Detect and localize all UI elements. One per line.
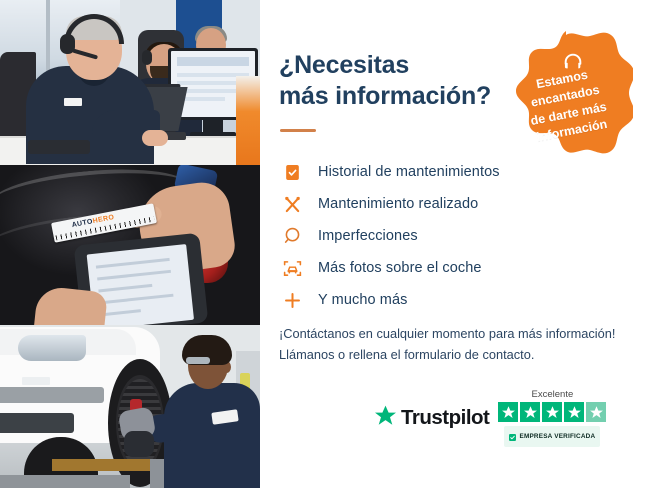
contact-paragraph-line-2: Llámanos o rellena el formulario de cont…	[279, 345, 629, 366]
feature-label: Más fotos sobre el coche	[318, 260, 482, 276]
feature-item-maintenance-done: Mantenimiento realizado	[279, 188, 609, 220]
orange-rack	[236, 76, 260, 165]
mechanic	[164, 335, 260, 488]
star-tile	[542, 402, 562, 422]
feature-label: Mantenimiento realizado	[318, 196, 478, 212]
call-center-agents-photo	[0, 0, 260, 165]
information-banner: AUTOHERO	[0, 0, 650, 488]
magnifier-icon	[279, 223, 305, 249]
feature-item-maintenance-history: Historial de mantenimientos	[279, 156, 609, 188]
feature-label: Y mucho más	[318, 292, 407, 308]
mechanic-wheel-photo	[0, 325, 260, 488]
feature-label: Historial de mantenimientos	[318, 164, 500, 180]
feature-item-more-photos: Más fotos sobre el coche	[279, 252, 609, 284]
trustpilot-star-icon	[373, 404, 398, 433]
verified-check-icon	[509, 428, 516, 446]
title-divider	[280, 129, 316, 132]
desk-tablet	[28, 140, 90, 154]
car-lift-ramp	[0, 475, 130, 488]
trustpilot-name: Trustpilot	[401, 406, 489, 430]
car-scan-icon	[279, 255, 305, 281]
rating-label: Excelente	[532, 389, 574, 400]
page-title-line-1: ¿Necesitas	[279, 50, 529, 81]
photo-column: AUTOHERO	[0, 0, 260, 488]
star-tile	[520, 402, 540, 422]
feature-item-imperfections: Imperfecciones	[279, 220, 609, 252]
crossed-tools-icon	[279, 191, 305, 217]
contact-paragraph: ¡Contáctanos en cualquier momento para m…	[279, 324, 629, 365]
plus-icon	[279, 287, 305, 313]
page-title: ¿Necesitas más información?	[279, 50, 529, 113]
star-tile-partial	[586, 402, 606, 422]
star-tile	[498, 402, 518, 422]
trustpilot-rating: Excelente	[498, 389, 606, 447]
feature-list: Historial de mantenimientos Mantenimient…	[279, 156, 609, 316]
promo-badge: Estamos encantados de darte más informac…	[499, 31, 633, 159]
contact-paragraph-line-1: ¡Contáctanos en cualquier momento para m…	[279, 324, 629, 345]
verified-label: EMPRESA VERIFICADA	[519, 433, 595, 440]
page-title-line-2: más información?	[279, 81, 529, 112]
checklist-document-icon	[279, 159, 305, 185]
content-panel: ¿Necesitas más información? Estamos enca…	[260, 0, 650, 488]
agent-one	[22, 18, 146, 144]
trustpilot-logo[interactable]: Trustpilot	[373, 404, 489, 433]
feature-item-much-more: Y mucho más	[279, 284, 609, 316]
star-rating	[498, 402, 606, 422]
verified-badge: EMPRESA VERIFICADA	[504, 426, 600, 447]
feature-label: Imperfecciones	[318, 228, 418, 244]
trustpilot-widget[interactable]: Trustpilot Excelente	[373, 388, 626, 448]
car-inspection-ruler-photo: AUTOHERO	[0, 165, 260, 325]
star-tile	[564, 402, 584, 422]
